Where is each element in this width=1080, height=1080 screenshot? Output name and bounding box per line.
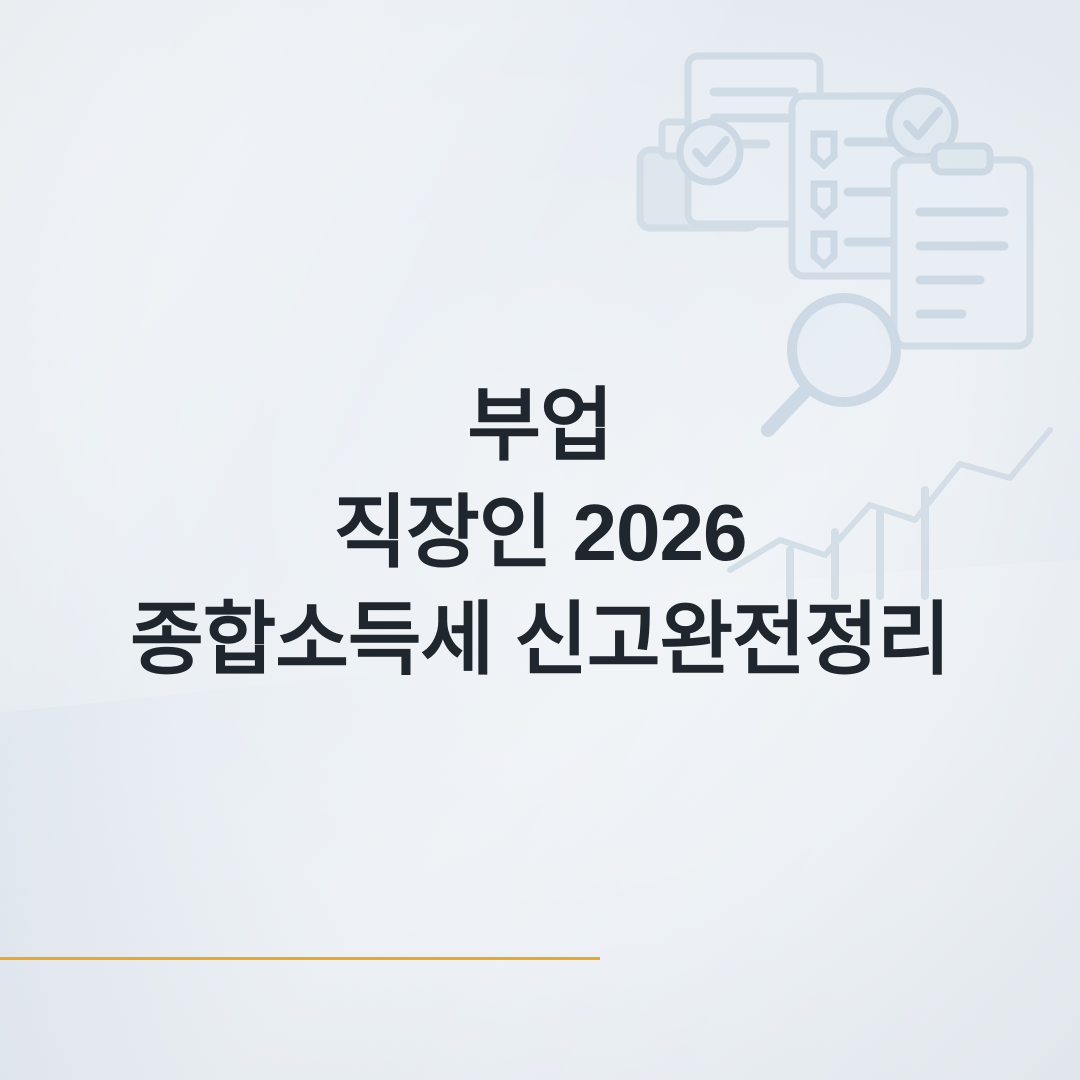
clipboard-lines-icon bbox=[894, 146, 1030, 346]
check-circle-icon bbox=[680, 122, 740, 182]
page-title: 부업 직장인 2026 종합소득세 신고완전정리 bbox=[0, 372, 1080, 694]
document-icon bbox=[688, 56, 820, 224]
title-line-2: 직장인 2026 bbox=[34, 479, 1046, 586]
title-line-3: 종합소득세 신고완전정리 bbox=[34, 586, 1046, 693]
checklist-clipboard-icon bbox=[792, 96, 932, 276]
title-line-1: 부업 bbox=[34, 372, 1046, 479]
thumbnail-card: 부업 직장인 2026 종합소득세 신고완전정리 bbox=[0, 0, 1080, 1080]
printer-icon bbox=[640, 122, 758, 228]
check-circle-right-icon bbox=[889, 91, 955, 157]
accent-rule bbox=[0, 957, 600, 960]
